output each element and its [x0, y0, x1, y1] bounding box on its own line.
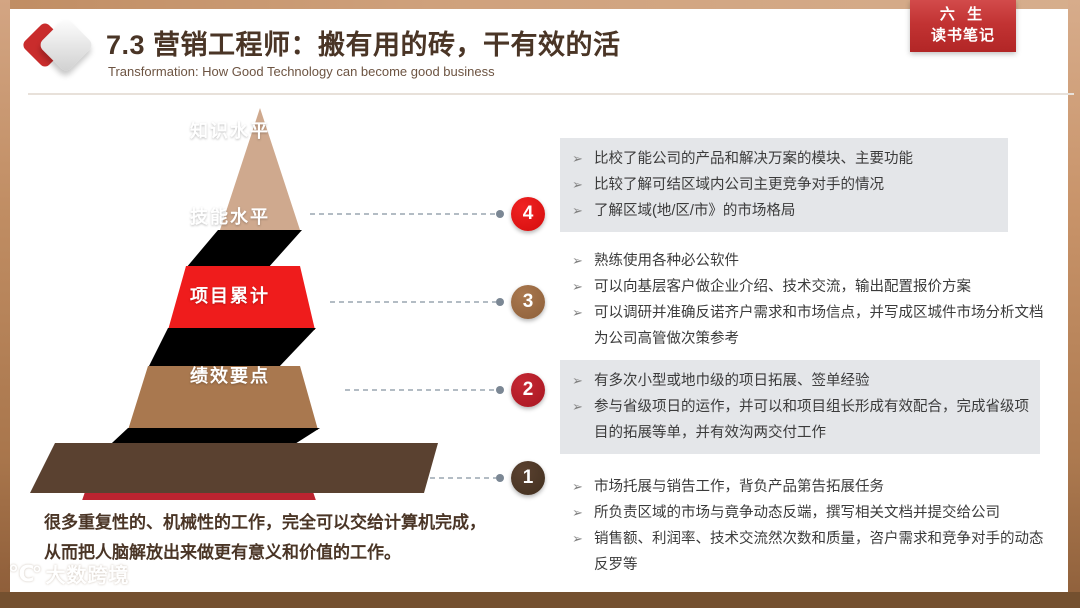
content-block-project: ➢ 有多次小型或地巾级的项日拓展、签单经验 ➢ 参与省级项日的运作，并可以和项目…	[560, 360, 1040, 454]
bullet-text: 可以调研并准确反诺齐户需求和市场信点，并写成区城件市场分析文档为公司高管做次策参…	[594, 300, 1050, 352]
pyramid-number-2: 2	[511, 373, 545, 407]
content-block-performance: ➢ 市场托展与销告工作，背负产品第告拓展任务 ➢ 所负责区域的市场与竟争动态反端…	[560, 466, 1060, 586]
slide-header: 7.3 营销工程师：搬有用的砖，干有效的活 Transformation: Ho…	[14, 9, 1064, 87]
content-block-skill: ➢ 熟练使用各种必公软件 ➢ 可以向基层客户做企业介绍、技术交流，输出配置报价方…	[560, 240, 1060, 360]
bullet-text: 所负责区域的市场与竟争动态反端，撰写相关文档并提交给公司	[594, 500, 1050, 526]
list-item: ➢ 可以调研并准确反诺齐户需求和市场信点，并写成区城件市场分析文档为公司高管做次…	[572, 300, 1050, 352]
connector-dot-4	[496, 210, 504, 218]
header-divider	[28, 93, 1074, 95]
bullet-text: 比校了能公司的产品和解决万案的模块、主要功能	[594, 146, 998, 172]
status-badge: 六 生 读书笔记	[910, 0, 1016, 52]
list-item: ➢ 可以向基层客户做企业介绍、技术交流，输出配置报价方案	[572, 274, 1050, 300]
list-item: ➢ 参与省级项日的运作，并可以和项目组长形成有效配合，完成省级项目的拓展等单，并…	[572, 394, 1030, 446]
diamond-logo-icon	[28, 19, 100, 79]
list-item: ➢ 市场托展与销告工作，背负产品第告拓展任务	[572, 474, 1050, 500]
list-item: ➢ 有多次小型或地巾级的项日拓展、签单经验	[572, 368, 1030, 394]
watermark-logo-icon: ℃°	[8, 561, 39, 587]
list-item: ➢ 所负责区域的市场与竟争动态反端，撰写相关文档并提交给公司	[572, 500, 1050, 526]
arrow-bullet-icon: ➢	[572, 500, 594, 526]
arrow-bullet-icon: ➢	[572, 248, 594, 274]
badge-line-1: 六 生	[910, 4, 1016, 25]
content-block-knowledge: ➢ 比校了能公司的产品和解决万案的模块、主要功能 ➢ 比较了解可结区域内公司主更…	[560, 138, 1008, 232]
bullet-text: 市场托展与销告工作，背负产品第告拓展任务	[594, 474, 1050, 500]
connector-dot-3	[496, 298, 504, 306]
page-title: 7.3 营销工程师：搬有用的砖，干有效的活	[106, 23, 621, 62]
bullet-text: 有多次小型或地巾级的项日拓展、签单经验	[594, 368, 1030, 394]
pyramid-number-3: 3	[511, 285, 545, 319]
slide-root: 7.3 营销工程师：搬有用的砖，干有效的活 Transformation: Ho…	[0, 0, 1080, 608]
bullet-text: 比较了解可结区域内公司主更竞争对手的情况	[594, 172, 998, 198]
connector-lines-svg	[300, 190, 520, 510]
connector-dot-2	[496, 386, 504, 394]
arrow-bullet-icon: ➢	[572, 300, 594, 326]
list-item: ➢ 销售额、利润率、技术交流然次数和质量，咨户需求和竞争对手的动态反罗等	[572, 526, 1050, 578]
list-item: ➢ 比较了解可结区域内公司主更竞争对手的情况	[572, 172, 998, 198]
list-item: ➢ 熟练使用各种必公软件	[572, 248, 1050, 274]
bullet-text: 销售额、利润率、技术交流然次数和质量，咨户需求和竞争对手的动态反罗等	[594, 526, 1050, 578]
bullet-text: 可以向基层客户做企业介绍、技术交流，输出配置报价方案	[594, 274, 1050, 300]
page-subtitle: Transformation: How Good Technology can …	[108, 64, 495, 79]
arrow-bullet-icon: ➢	[572, 146, 594, 172]
frame-border-bottom	[0, 592, 1080, 608]
arrow-bullet-icon: ➢	[572, 474, 594, 500]
pyramid-number-1: 1	[511, 461, 545, 495]
pyramid-number-4: 4	[511, 197, 545, 231]
bullet-text: 熟练使用各种必公软件	[594, 248, 1050, 274]
list-item: ➢ 比校了能公司的产品和解决万案的模块、主要功能	[572, 146, 998, 172]
connector-dot-1	[496, 474, 504, 482]
arrow-bullet-icon: ➢	[572, 198, 594, 224]
watermark-text: 大数跨境	[45, 559, 129, 588]
list-item: ➢ 了解区域(地/区/市》的市场格局	[572, 198, 998, 224]
arrow-bullet-icon: ➢	[572, 172, 594, 198]
arrow-bullet-icon: ➢	[572, 526, 594, 552]
arrow-bullet-icon: ➢	[572, 274, 594, 300]
arrow-bullet-icon: ➢	[572, 394, 594, 420]
watermark: ℃° 大数跨境	[8, 559, 129, 588]
bullet-text: 参与省级项日的运作，并可以和项目组长形成有效配合，完成省级项目的拓展等单，并有效…	[594, 394, 1030, 446]
badge-line-2: 读书笔记	[910, 25, 1016, 46]
bullet-text: 了解区域(地/区/市》的市场格局	[594, 198, 998, 224]
arrow-bullet-icon: ➢	[572, 368, 594, 394]
caption-line-1: 很多重复性的、机械性的工作，完全可以交给计算机完成，	[44, 508, 544, 538]
frame-border-right	[1068, 0, 1080, 608]
